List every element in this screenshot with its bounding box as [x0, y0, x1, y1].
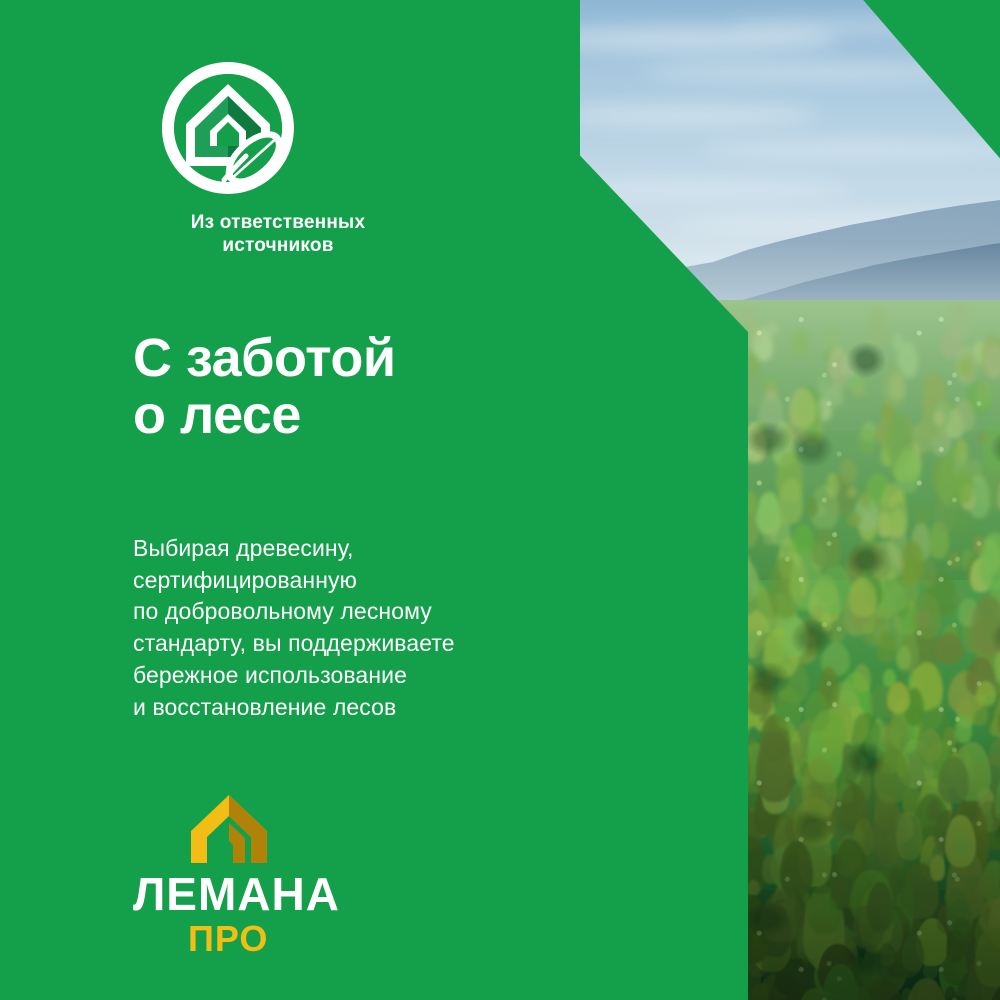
- eco-badge-caption: Из ответственных источников: [133, 212, 423, 258]
- body-text: Выбирая древесину, сертифицированную по …: [133, 533, 455, 723]
- house-leaf-circle-icon: [158, 58, 298, 198]
- brand-lockup: ЛЕМАНА ПРО: [133, 793, 433, 957]
- brand-sub: ПРО: [188, 921, 433, 957]
- brand-name: ЛЕМАНА: [133, 871, 433, 917]
- eco-badge: Из ответственных источников: [133, 58, 473, 258]
- house-roof-icon: [189, 793, 269, 865]
- poster: Из ответственных источников С заботой о …: [0, 0, 1000, 1000]
- page-title: С заботой о лесе: [133, 330, 396, 444]
